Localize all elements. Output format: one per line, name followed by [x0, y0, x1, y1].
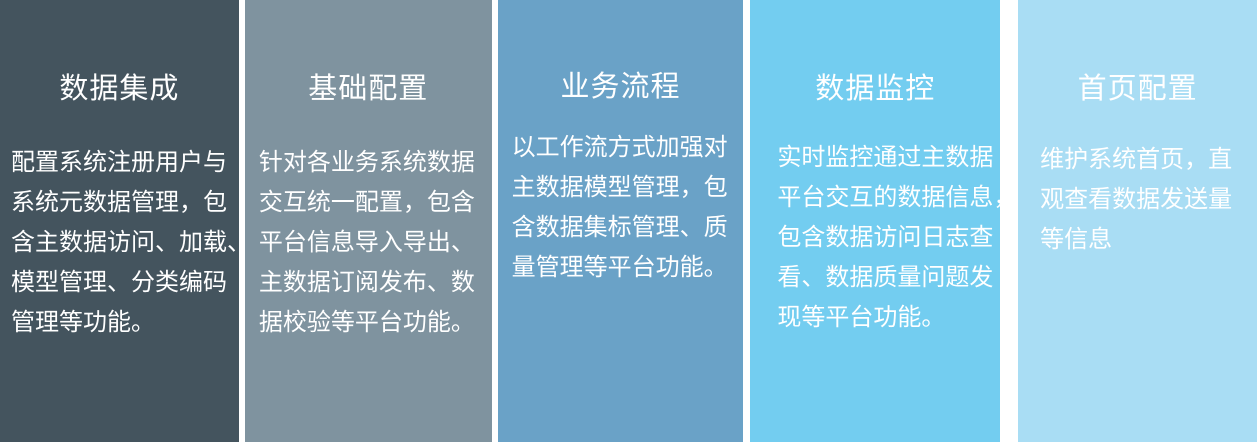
panel-title: 基础配置	[245, 72, 492, 106]
description-line: 包含数据访问日志查	[777, 218, 1017, 258]
panel-description: 配置系统注册用户与 系统元数据管理，包 含主数据访问、加载、 模型管理、分类编码…	[11, 143, 251, 343]
description-line: 看、数据质量问题发	[777, 258, 1017, 298]
description-line: 以工作流方式加强对	[512, 128, 728, 168]
description-line: 管理等功能。	[11, 303, 251, 343]
description-line: 实时监控通过主数据	[777, 138, 1017, 178]
description-line: 模型管理、分类编码	[11, 263, 251, 303]
description-line: 等信息	[1040, 220, 1232, 260]
panel-homepage-configuration[interactable]: 首页配置 维护系统首页，直 观查看数据发送量 等信息	[1018, 0, 1257, 442]
description-line: 量管理等平台功能。	[512, 248, 728, 288]
panel-description: 维护系统首页，直 观查看数据发送量 等信息	[1040, 140, 1232, 260]
panel-description: 以工作流方式加强对 主数据模型管理，包 含数据集标管理、质 量管理等平台功能。	[512, 128, 728, 288]
description-line: 维护系统首页，直	[1040, 140, 1232, 180]
panel-title: 数据集成	[0, 72, 239, 106]
description-line: 观查看数据发送量	[1040, 180, 1232, 220]
description-line: 平台信息导入导出、	[259, 223, 475, 263]
description-line: 交互统一配置，包含	[259, 183, 475, 223]
description-line: 配置系统注册用户与	[11, 143, 251, 183]
panel-title: 数据监控	[750, 72, 1000, 106]
panel-title: 业务流程	[498, 70, 744, 104]
panel-business-process[interactable]: 业务流程 以工作流方式加强对 主数据模型管理，包 含数据集标管理、质 量管理等平…	[498, 0, 744, 442]
panel-data-integration[interactable]: 数据集成 配置系统注册用户与 系统元数据管理，包 含主数据访问、加载、 模型管理…	[0, 0, 239, 442]
panel-basic-configuration[interactable]: 基础配置 针对各业务系统数据 交互统一配置，包含 平台信息导入导出、 主数据订阅…	[245, 0, 492, 442]
panel-description: 针对各业务系统数据 交互统一配置，包含 平台信息导入导出、 主数据订阅发布、数 …	[259, 143, 475, 343]
description-line: 据校验等平台功能。	[259, 303, 475, 343]
description-line: 含数据集标管理、质	[512, 208, 728, 248]
description-line: 平台交互的数据信息，	[777, 178, 1017, 218]
description-line: 系统元数据管理，包	[11, 183, 251, 223]
description-line: 针对各业务系统数据	[259, 143, 475, 183]
panel-description: 实时监控通过主数据 平台交互的数据信息， 包含数据访问日志查 看、数据质量问题发…	[777, 138, 1017, 338]
description-line: 主数据模型管理，包	[512, 168, 728, 208]
panel-data-monitoring[interactable]: 数据监控 实时监控通过主数据 平台交互的数据信息， 包含数据访问日志查 看、数据…	[750, 0, 1000, 442]
description-line: 现等平台功能。	[777, 298, 1017, 338]
panel-title: 首页配置	[1018, 72, 1257, 106]
description-line: 主数据订阅发布、数	[259, 263, 475, 303]
description-line: 含主数据访问、加载、	[11, 223, 251, 263]
feature-panel-board: 数据集成 配置系统注册用户与 系统元数据管理，包 含主数据访问、加载、 模型管理…	[0, 0, 1257, 442]
